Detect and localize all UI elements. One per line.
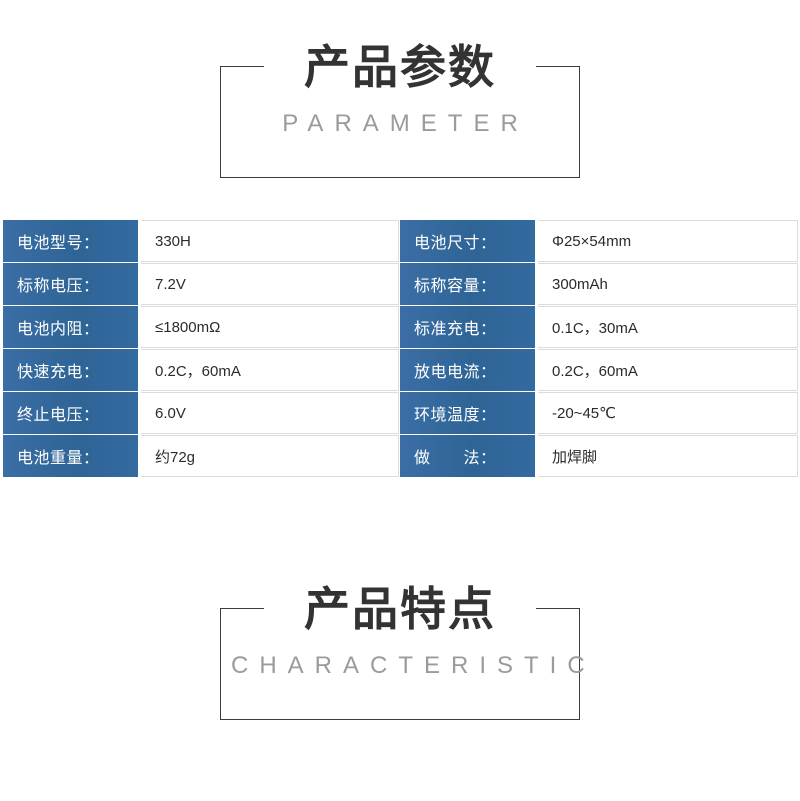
- spec-table-wrapper: 电池型号： 330H 标称电压： 7.2V 电池内阻： ≤1800mΩ 快速充电…: [0, 220, 800, 478]
- section-gap: [0, 478, 800, 586]
- table-row: 电池内阻： ≤1800mΩ: [1, 306, 400, 348]
- header-bottom-spacer: [220, 678, 580, 720]
- table-row: 标称容量： 300mAh: [400, 263, 799, 305]
- spec-column-right: 电池尺寸： Φ25×54mm 标称容量： 300mAh 标准充电： 0.1C，3…: [400, 220, 799, 478]
- spec-label: 放电电流：: [400, 349, 535, 391]
- spec-value: 加焊脚: [538, 435, 798, 477]
- spec-table: 电池型号： 330H 标称电压： 7.2V 电池内阻： ≤1800mΩ 快速充电…: [1, 220, 799, 478]
- page-subtitle: PARAMETER: [220, 90, 580, 136]
- spec-value: 330H: [141, 220, 399, 262]
- header-text-group: 产品参数 PARAMETER: [220, 44, 580, 178]
- spec-value: 约72g: [141, 435, 399, 477]
- spec-column-left: 电池型号： 330H 标称电压： 7.2V 电池内阻： ≤1800mΩ 快速充电…: [1, 220, 400, 478]
- spec-label: 标准充电：: [400, 306, 535, 348]
- section-header-parameter: 产品参数 PARAMETER: [220, 44, 580, 178]
- table-row: 电池型号： 330H: [1, 220, 400, 262]
- spec-label: 标称容量：: [400, 263, 535, 305]
- spec-value: -20~45℃: [538, 392, 798, 434]
- page-subtitle: CHARACTERISTIC: [220, 632, 580, 678]
- table-row: 环境温度： -20~45℃: [400, 392, 799, 434]
- table-row: 终止电压： 6.0V: [1, 392, 400, 434]
- spec-label: 终止电压：: [3, 392, 138, 434]
- table-row: 电池尺寸： Φ25×54mm: [400, 220, 799, 262]
- spec-value: 6.0V: [141, 392, 399, 434]
- spec-label: 环境温度：: [400, 392, 535, 434]
- spec-value: 0.1C，30mA: [538, 306, 798, 348]
- table-row: 做 法： 加焊脚: [400, 435, 799, 477]
- spec-label: 电池尺寸：: [400, 220, 535, 262]
- spec-value: 0.2C，60mA: [538, 349, 798, 391]
- section-header-characteristic: 产品特点 CHARACTERISTIC: [220, 586, 580, 720]
- spec-value: 300mAh: [538, 263, 798, 305]
- page-title: 产品特点: [220, 586, 580, 632]
- page-title: 产品参数: [220, 44, 580, 90]
- table-row: 标准充电： 0.1C，30mA: [400, 306, 799, 348]
- table-row: 放电电流： 0.2C，60mA: [400, 349, 799, 391]
- spec-label: 做 法：: [400, 435, 535, 477]
- table-row: 快速充电： 0.2C，60mA: [1, 349, 400, 391]
- spec-label: 电池重量：: [3, 435, 138, 477]
- header-bottom-spacer: [220, 136, 580, 178]
- spec-value: ≤1800mΩ: [141, 306, 399, 348]
- spec-label: 电池型号：: [3, 220, 138, 262]
- spec-value: 0.2C，60mA: [141, 349, 399, 391]
- table-row: 标称电压： 7.2V: [1, 263, 400, 305]
- spec-label: 电池内阻：: [3, 306, 138, 348]
- spec-value: Φ25×54mm: [538, 220, 798, 262]
- spec-label: 快速充电：: [3, 349, 138, 391]
- spec-label: 标称电压：: [3, 263, 138, 305]
- header-text-group: 产品特点 CHARACTERISTIC: [220, 586, 580, 720]
- spec-value: 7.2V: [141, 263, 399, 305]
- table-row: 电池重量： 约72g: [1, 435, 400, 477]
